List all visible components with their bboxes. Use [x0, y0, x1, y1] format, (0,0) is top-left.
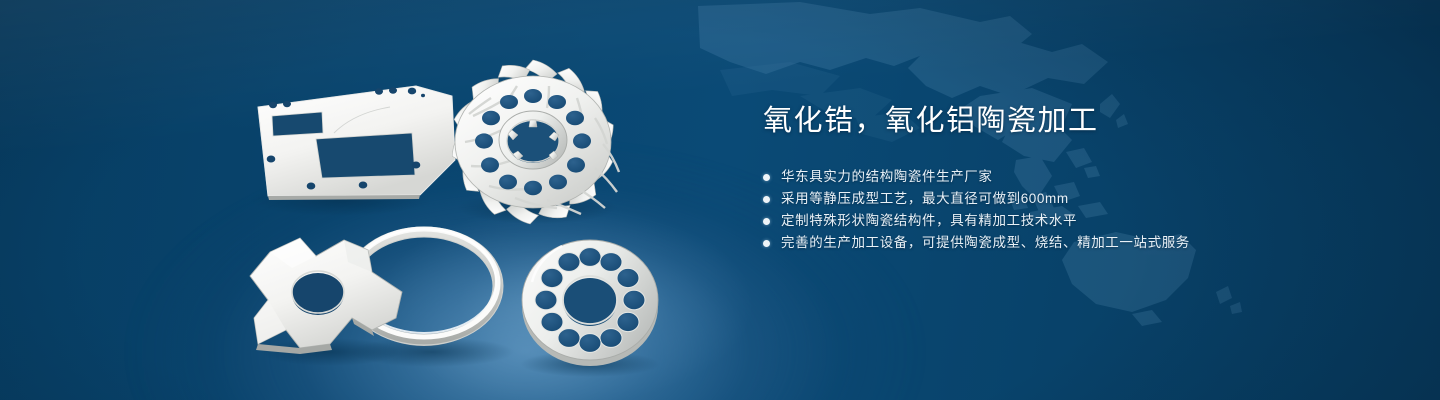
list-item-label: 定制特殊形状陶瓷结构件，具有精加工技术水平 — [781, 210, 1077, 232]
feature-list: 华东具实力的结构陶瓷件生产厂家 采用等静压成型工艺，最大直径可做到600mm 定… — [763, 166, 1363, 254]
product-photo-cluster — [0, 0, 720, 400]
list-item: 华东具实力的结构陶瓷件生产厂家 — [763, 166, 1363, 188]
list-item: 定制特殊形状陶瓷结构件，具有精加工技术水平 — [763, 210, 1363, 232]
filled-circle-bullet-icon — [763, 174, 770, 181]
list-item-label: 采用等静压成型工艺，最大直径可做到600mm — [781, 188, 1069, 210]
ceramic-machined-plate — [250, 86, 455, 216]
filled-circle-bullet-icon — [763, 218, 770, 225]
banner-copy: 氧化锆，氧化铝陶瓷加工 华东具实力的结构陶瓷件生产厂家 采用等静压成型工艺，最大… — [763, 104, 1363, 254]
ceramic-perforated-disc — [520, 240, 660, 377]
filled-circle-bullet-icon — [763, 196, 770, 203]
list-item: 完善的生产加工设备，可提供陶瓷成型、烧结、精加工一站式服务 — [763, 232, 1363, 254]
banner-headline: 氧化锆，氧化铝陶瓷加工 — [763, 104, 1363, 138]
list-item: 采用等静压成型工艺，最大直径可做到600mm — [763, 188, 1363, 210]
filled-circle-bullet-icon — [763, 240, 770, 247]
ceramic-impeller-rotor — [448, 57, 619, 227]
list-item-label: 华东具实力的结构陶瓷件生产厂家 — [781, 166, 993, 188]
hero-banner: 氧化锆，氧化铝陶瓷加工 华东具实力的结构陶瓷件生产厂家 采用等静压成型工艺，最大… — [0, 0, 1440, 400]
list-item-label: 完善的生产加工设备，可提供陶瓷成型、烧结、精加工一站式服务 — [781, 232, 1190, 254]
ceramic-cross-shaped-part — [250, 238, 402, 366]
